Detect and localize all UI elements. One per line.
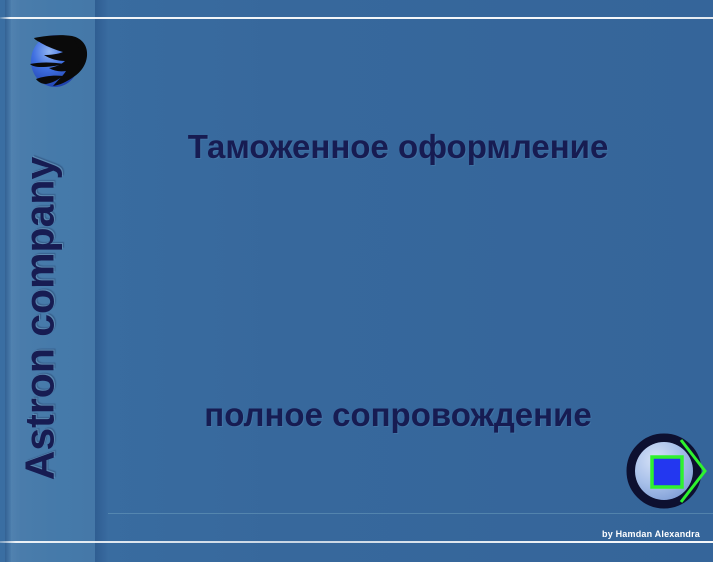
eagle-sphere-logo-icon (22, 24, 92, 96)
ring-square-chevron-emblem-icon (624, 432, 712, 512)
sidebar-band-highlight (5, 0, 11, 562)
company-name-vertical: Astron company (17, 109, 64, 529)
sidebar-band-edge (95, 0, 109, 562)
faint-divider-rule (108, 513, 713, 514)
author-credit: by Hamdan Alexandra (560, 529, 700, 539)
bottom-divider-rule (0, 541, 713, 543)
slide-title: Таможенное оформление (118, 128, 678, 166)
slide-subtitle: полное сопровождение (118, 396, 678, 434)
presentation-slide: Astron company Таможенное оформление пол… (0, 0, 713, 562)
top-divider-rule (0, 17, 713, 19)
